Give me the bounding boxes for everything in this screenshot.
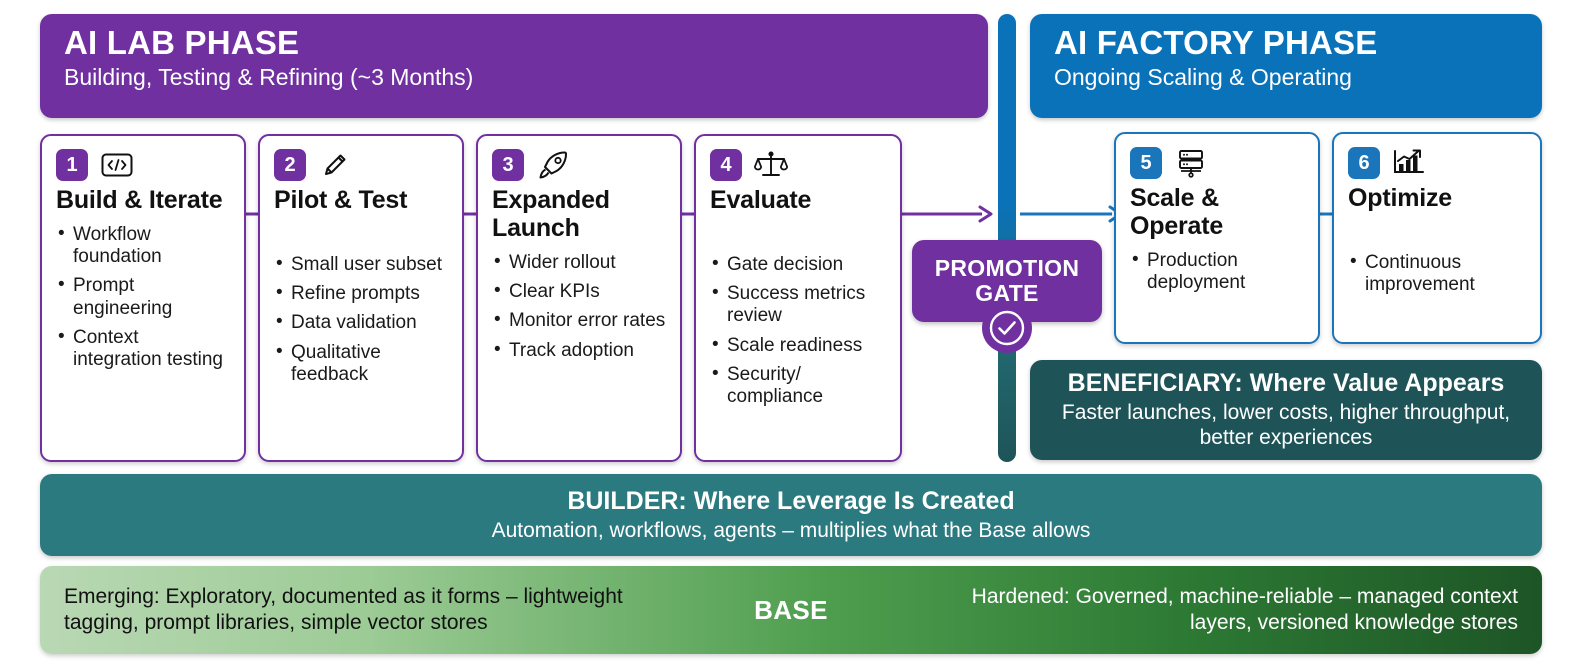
beneficiary-title: BENEFICIARY: Where Value Appears (1068, 369, 1505, 398)
step-number-6: 6 (1348, 147, 1380, 179)
step-title-1: Build & Iterate (56, 186, 230, 214)
lab-phase-subtitle: Building, Testing & Refining (~3 Months) (64, 64, 964, 92)
step-title-3: Expanded Launch (492, 186, 666, 242)
step-number-1: 1 (56, 149, 88, 181)
step-title-6: Optimize (1348, 184, 1526, 212)
list-item: Refine prompts (274, 283, 448, 305)
list-item: Scale readiness (710, 335, 886, 357)
list-item: Clear KPIs (492, 281, 666, 303)
card3-badge-row: 3 (492, 148, 666, 182)
factory-phase-subtitle: Ongoing Scaling & Operating (1054, 64, 1518, 92)
step-card-build-iterate[interactable]: 1 Build & Iterate Workflow foundation Pr… (40, 134, 246, 462)
lab-phase-banner: AI LAB PHASE Building, Testing & Refinin… (40, 14, 988, 118)
list-item: Continuous improvement (1348, 252, 1526, 296)
step-card-scale-operate[interactable]: 5 Scale & Operate Production deployment (1114, 132, 1320, 344)
list-item: Success metrics review (710, 283, 886, 327)
step-bullets-2: Small user subset Refine prompts Data va… (274, 254, 448, 386)
step-title-2: Pilot & Test (274, 186, 448, 214)
arrow-step4-to-gate (888, 203, 994, 225)
arrow-gate-to-step5 (1020, 203, 1124, 225)
list-item: Data validation (274, 312, 448, 334)
scales-icon (753, 149, 789, 181)
step-number-4: 4 (710, 149, 742, 181)
list-item: Wider rollout (492, 252, 666, 274)
phase-divider-bar (998, 14, 1016, 462)
lab-phase-title: AI LAB PHASE (64, 26, 964, 61)
step-bullets-5: Production deployment (1130, 250, 1304, 294)
step-number-2: 2 (274, 149, 306, 181)
server-rack-icon (1173, 147, 1209, 179)
list-item: Small user subset (274, 254, 448, 276)
step-card-evaluate[interactable]: 4 Evaluate Gate decision Success metrics… (694, 134, 902, 462)
step-bullets-3: Wider rollout Clear KPIs Monitor error r… (492, 252, 666, 362)
card1-badge-row: 1 (56, 148, 230, 182)
rocket-icon (535, 149, 571, 181)
step-card-pilot-test[interactable]: 2 Pilot & Test Small user subset Refine … (258, 134, 464, 462)
card5-badge-row: 5 (1130, 146, 1304, 180)
code-brackets-icon (99, 149, 135, 181)
list-item: Gate decision (710, 254, 886, 276)
pencil-icon (317, 149, 353, 181)
base-label: BASE (660, 595, 922, 626)
promotion-gate-line1: PROMOTION (935, 256, 1080, 281)
step-bullets-6: Continuous improvement (1348, 252, 1526, 296)
card6-badge-row: 6 (1348, 146, 1526, 180)
step-title-5: Scale & Operate (1130, 184, 1304, 240)
step-bullets-4: Gate decision Success metrics review Sca… (710, 254, 886, 408)
list-item: Security/ compliance (710, 364, 886, 408)
builder-band: BUILDER: Where Leverage Is Created Autom… (40, 474, 1542, 556)
factory-phase-title: AI FACTORY PHASE (1054, 26, 1518, 61)
step-card-optimize[interactable]: 6 Optimize Continuous improvement (1332, 132, 1542, 344)
growth-chart-icon (1391, 147, 1427, 179)
step-number-3: 3 (492, 149, 524, 181)
promotion-gate-line2: GATE (975, 281, 1038, 306)
step-card-expanded-launch[interactable]: 3 Expanded Launch Wider rollout Clear KP… (476, 134, 682, 462)
card4-badge-row: 4 (710, 148, 886, 182)
beneficiary-band: BENEFICIARY: Where Value Appears Faster … (1030, 360, 1542, 460)
base-emerging-text: Emerging: Exploratory, documented as it … (40, 584, 660, 635)
base-hardened-text: Hardened: Governed, machine-reliable – m… (922, 584, 1542, 635)
diagram-canvas: AI LAB PHASE Building, Testing & Refinin… (0, 0, 1584, 672)
base-band: Emerging: Exploratory, documented as it … (40, 566, 1542, 654)
step-title-4: Evaluate (710, 186, 886, 214)
list-item: Qualitative feedback (274, 342, 448, 386)
factory-phase-banner: AI FACTORY PHASE Ongoing Scaling & Opera… (1030, 14, 1542, 118)
beneficiary-subtitle: Faster launches, lower costs, higher thr… (1048, 400, 1524, 450)
list-item: Monitor error rates (492, 310, 666, 332)
list-item: Prompt engineering (56, 275, 230, 319)
step-number-5: 5 (1130, 147, 1162, 179)
check-circle-icon (982, 303, 1032, 353)
list-item: Production deployment (1130, 250, 1304, 294)
card2-badge-row: 2 (274, 148, 448, 182)
step-bullets-1: Workflow foundation Prompt engineering C… (56, 224, 230, 371)
list-item: Track adoption (492, 340, 666, 362)
list-item: Context integration testing (56, 327, 230, 371)
list-item: Workflow foundation (56, 224, 230, 268)
builder-title: BUILDER: Where Leverage Is Created (567, 487, 1014, 516)
builder-subtitle: Automation, workflows, agents – multipli… (492, 518, 1091, 543)
